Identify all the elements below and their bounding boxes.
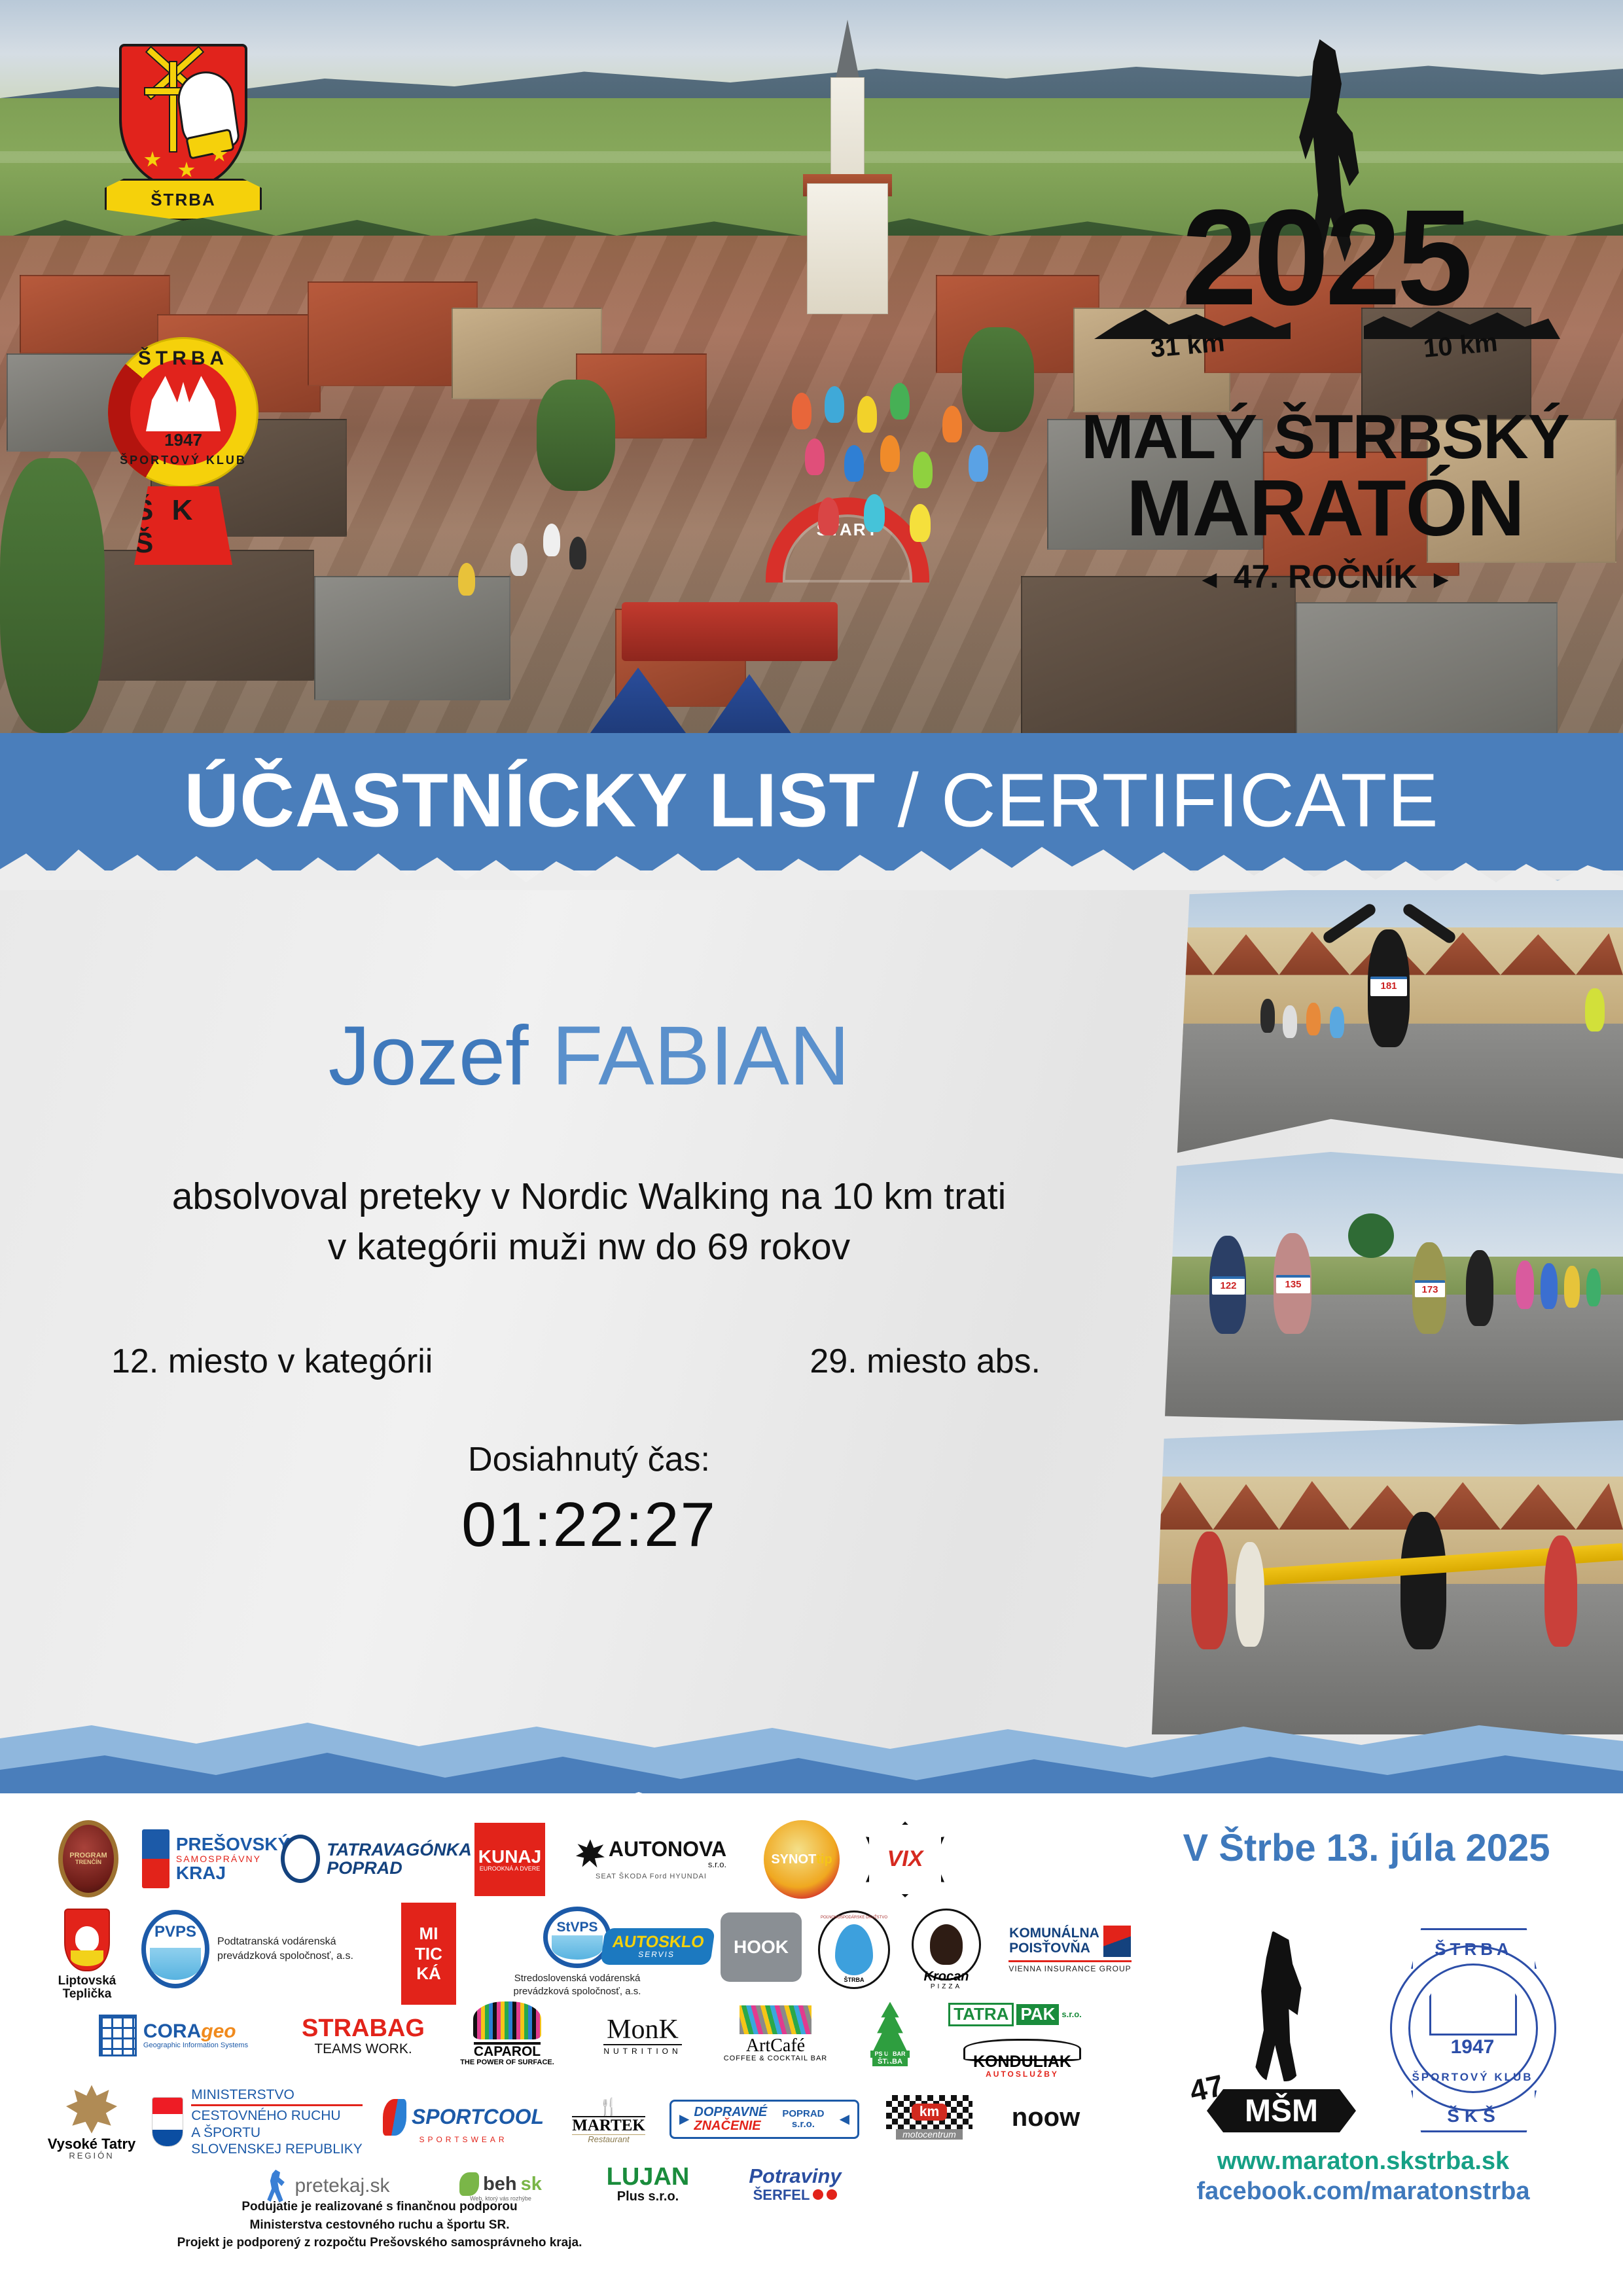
sks-club-emblem: ŠTRBA 1947 ŠPORTOVÝ KLUB Š K Š [101,331,265,612]
sponsor-vix[interactable]: VIX [859,1820,951,1899]
sponsor-line-1: AUTOSKLO [611,1933,705,1951]
description-line-1: absolvoval preteky v Nordic Walking na 1… [65,1172,1113,1222]
sponsor-line-1: KOMUNÁLNA [1009,1926,1099,1941]
sponsor-line-1: TATRA [948,2003,1014,2026]
club-abbrev: Š K Š [134,486,232,565]
torn-edge-top [0,844,1623,890]
runner-silhouette-icon [1247,1931,1310,2081]
strba-coat-of-arms: ŠTRBA [105,29,262,226]
title-separator: / [876,758,941,843]
sportcool-flame-icon [383,2099,406,2136]
sponsor-krocan-pizza[interactable]: Krocan PIZZA [904,1908,989,1992]
sponsor-sportcool[interactable]: SPORTCOOL SPORTSWEAR [382,2089,545,2154]
sponsor-line-1: LUJAN [607,2164,690,2191]
sponsor-line-2: Teplička [63,1988,112,2001]
funding-note-line3: Projekt je podporený z rozpočtu Prešovsk… [46,2234,713,2252]
sponsor-vysoke-tatry[interactable]: Vysoké Tatry REGIÓN [43,2078,141,2167]
spectator [1544,1535,1577,1647]
sponsor-line-1: MI [419,1924,438,1944]
water-drop-icon [835,1924,873,1975]
sponsor-monk-nutrition[interactable]: MonK NUTRITION [580,2001,705,2070]
crowd-runner [969,445,988,482]
turkey-icon [930,1924,963,1965]
sponsor-line-3: A ŠPORTU [191,2125,362,2141]
sponsor-line-2: SAMOSPRÁVNY [176,1854,290,1864]
bib-number: 135 [1276,1275,1310,1293]
kraj-flag-icon [142,1829,169,1888]
sponsor-line-2: NUTRITION [603,2044,681,2056]
sponsor-line-1: PVPS [154,1924,196,1940]
spectator [1283,1005,1297,1038]
sponsor-line-1: Vysoké Tatry [48,2136,136,2151]
sponsor-line-3: Geographic Information Systems [143,2042,248,2050]
church-icon [795,20,900,327]
sponsor-line-2: tip [816,1852,832,1867]
sponsor-line-3: POPRAD s.r.o. [772,2109,834,2130]
sponsor-line-2: COFFEE & COCKTAIL BAR [724,2055,828,2063]
sponsor-line-1: SPORTCOOL [412,2105,544,2128]
sponsor-line-2: PIZZA [931,1984,962,1991]
sponsor-strabag[interactable]: STRABAG TEAMS WORK. [291,2002,435,2070]
sponsor-potraviny-serfel[interactable]: Potraviny ŠERFEL [723,2157,867,2212]
marathon-name-line1: MALÝ ŠTRBSKÝ [1067,406,1584,469]
sponsor-komunalna-poistovna[interactable]: KOMUNÁLNA POISŤOVŇA VIENNA INSURANCE GRO… [998,1913,1142,1985]
sponsor-line-1: Krocan [924,1970,969,1984]
sponsor-synot-tip[interactable]: SYNOTtip [756,1819,847,1900]
distance-short-label: 10 km [1422,328,1499,364]
stamp-bottom-text: ŠKŠ [1411,2090,1537,2132]
sponsor-line-2: TEAMS WORK. [314,2042,412,2056]
cutlery-icon: 🍴 [598,2098,619,2116]
coa-ribbon-label: ŠTRBA [105,179,262,221]
sponsor-caparol[interactable]: CAPAROL THE POWER OF SURFACE. [445,1994,569,2074]
sponsor-line-2: TIC [415,1944,442,1964]
crowd-runner [913,452,933,488]
crowd-runner [818,497,839,535]
caparol-elephant-icon [473,2001,541,2039]
sponsor-logo-grid: PROGRAM TRENČÍN PREŠOVSKÝ SAMOSPRÁVNY KR… [36,1803,1142,2196]
sponsor-dopravne-znacenie[interactable]: ▶ DOPRAVNÉ ZNAČENIE POPRAD s.r.o. ◀ [669,2087,859,2151]
sponsor-line-3: VIENNA INSURANCE GROUP [1008,1960,1131,1973]
sponsor-martek[interactable]: 🍴 MARTEK Restaurant [553,2083,664,2159]
sponsor-autonova[interactable]: AUTONOVA s.r.o. SEAT ŠKODA Ford HYUNDAI [560,1820,743,1899]
rooftop [314,576,510,700]
spectator [543,524,560,556]
sponsor-line-2: ŠERFEL [753,2187,810,2202]
sponsor-line-1: TATRAVAGÓNKA [327,1840,471,1859]
sponsor-line-1: beh [483,2174,517,2194]
spectator [1260,999,1275,1033]
runner-body [1541,1263,1558,1309]
description-line-2: v kategórii muži nw do 69 rokov [65,1222,1113,1272]
club-founded-year: 1947 [101,430,265,450]
tatravagonka-oval-icon [281,1835,320,1883]
sponsor-line-1: Liptovská [58,1975,116,1988]
sponsor-line-1: CORA [143,2020,201,2042]
sponsor-presovsky-kraj[interactable]: PREŠOVSKÝ SAMOSPRÁVNY KRAJ [144,1823,288,1895]
sponsor-line-3: SEAT ŠKODA Ford HYUNDAI [596,1873,707,1881]
facebook-link[interactable]: facebook.com/maratonstrba [1150,2177,1576,2207]
sponsor-line-3: KRAJ [176,1863,290,1882]
absolute-placement: 29. miesto abs. [810,1342,1113,1381]
spectator [510,543,527,576]
sponsor-line-2: ŠTRBA [820,1977,888,1983]
sponsor-line-1: PREŠOVSKÝ [176,1835,290,1854]
sponsor-line-1: KONDULIAK [973,2053,1071,2070]
spectator-folk [1191,1532,1228,1649]
crowd-runner [857,396,877,433]
sponsor-line-2: Podtatranská vodárenská [217,1935,353,1949]
crowd-runner [942,406,962,442]
tree-icon [1348,1213,1394,1258]
category-placement: 12. miesto v kategórii [72,1342,433,1381]
marathon-name-line2: MARATÓN [1067,468,1584,548]
sponsor-line-1: km [912,2104,947,2121]
sponsor-line-3: KÁ [416,1964,441,1984]
sponsor-ps-urbar-strba[interactable]: PS URBÁR ŠTRBA [847,1992,933,2077]
photo-finisher: 181 [1152,877,1623,1158]
sponsor-line-1: POĽNOHOSPODÁRSKE DRUŽSTVO [820,1916,888,1920]
website-link[interactable]: www.maraton.skstrba.sk [1150,2147,1576,2177]
issue-date: V Štrbe 13. júla 2025 [1157,1826,1576,1870]
crowd-runner [880,435,900,472]
pvps-oval-icon: PVPS [141,1910,209,1988]
sponsor-konduliak[interactable]: KONDULIAK AUTOSLUŽBY [947,2034,1097,2083]
sponsor-program-trencin[interactable]: PROGRAM TRENČÍN [43,1816,134,1901]
kp-flag-icon [1103,1926,1131,1957]
crowd-runner [910,504,931,542]
runner-body [1516,1261,1534,1309]
star-icon [178,162,195,179]
club-name-top: ŠTRBA [101,348,265,370]
beh-runner-icon [459,2172,479,2196]
contact-links: www.maraton.skstrba.sk facebook.com/mara… [1150,2147,1576,2206]
sponsor-tatravagonka[interactable]: TATRAVAGÓNKA POPRAD [298,1824,455,1893]
msm-event-stamp: 47. MŠM [1190,1931,1366,2134]
start-arch-icon: ŠTART [766,497,929,583]
crowd-runner [825,386,844,423]
marathon-logo: 2025 31 km 10 km MALÝ ŠTRBSKÝ MARATÓN ◄4… [1067,39,1584,615]
bib-number: 173 [1415,1280,1445,1297]
spectator [1306,1003,1321,1035]
sponsor-line-1: HOOK [734,1937,789,1956]
sponsor-autosklo[interactable]: AUTOSKLO SERVIS [599,1912,717,1981]
sponsor-line-2: TRENČÍN [75,1859,101,1865]
spectator [1330,1007,1344,1038]
sponsor-line-1: VIX [887,1848,923,1871]
sponsor-line-2: POPRAD [327,1859,471,1877]
tree-cluster [962,327,1034,432]
sponsor-line-2: EUROOKNÁ A DVERE [480,1866,541,1872]
sponsor-line-1: SYNOT [771,1852,816,1867]
sponsor-line-2: motocentrum [896,2129,963,2140]
sponsor-line-2: REGIÓN [69,2151,114,2161]
arrow-right-icon: ◀ [840,2113,849,2126]
sponsor-line-1: CAPAROL [474,2042,541,2059]
crowd-runner [792,393,811,429]
star-icon [144,151,161,168]
sponsor-line-1: MINISTERSTVO [191,2087,362,2103]
distance-row: 31 km 10 km [1067,301,1584,367]
marathon-edition-row: ◄47. ROČNÍK► [1067,558,1584,596]
sponsor-km-motocentrum[interactable]: km motocentrum [874,2083,985,2151]
signature-stamps: 47. MŠM ŠTRBA 1947 ŠPORTOVÝ KLUB ŠKŠ [1158,1911,1577,2147]
bib-number: 122 [1212,1276,1245,1295]
finish-time-value: 01:22:27 [79,1489,1099,1561]
sponsor-line-1: pretekaj.sk [294,2176,389,2197]
crowd-runner [890,383,910,420]
sponsor-line-2: THE POWER OF SURFACE. [460,2059,554,2067]
arrow-right-icon: ► [1429,566,1454,594]
sponsor-noow[interactable]: noow [997,2087,1095,2147]
photo-finish-line [1152,1420,1623,1734]
sponsor-line-1: STRABAG [302,2016,425,2042]
distance-long-label: 31 km [1149,328,1226,364]
sponsor-line-1: DOPRAVNÉ [694,2106,767,2119]
sponsor-line-2: SERVIS [610,1950,703,1959]
funding-note-line2: Ministerstva cestovného ruchu a športu S… [46,2216,713,2234]
sponsor-hook[interactable]: HOOK [717,1910,806,1984]
runner-body [1466,1250,1493,1326]
runner-body [1564,1266,1580,1308]
funding-note-line1: Podujatie je realizované s finančnou pod… [46,2198,713,2216]
sponsor-line-1: MARTEK [572,2116,645,2135]
sponsor-corageo[interactable]: CORAgeo Geographic Information Systems [75,2000,272,2072]
crowd-runner [844,445,864,482]
sponsor-line-2: s.r.o. [609,1860,726,1869]
artcafe-stripes-icon [740,2005,811,2034]
sponsor-line-1: MonK [607,2015,679,2044]
sponsor-line-4: SLOVENSKEJ REPUBLIKY [191,2141,362,2157]
sponsor-tatrapak[interactable]: TATRA PAK s.r.o. [943,1992,1087,2037]
crowd-runner [805,439,825,475]
sks-official-stamp: ŠTRBA 1947 ŠPORTOVÝ KLUB ŠKŠ [1374,1922,1571,2138]
sponsor-line-2: PAK [1016,2004,1059,2024]
sponsor-miticka[interactable]: MI TIC KÁ [393,1901,465,2006]
race-tent [622,602,838,661]
sponsor-line-2: sk [521,2174,542,2194]
sponsor-line-2: CESTOVNÉHO RUCHU [191,2108,362,2124]
msm-abbrev: MŠM [1207,2089,1356,2132]
sponsor-kunaj[interactable]: KUNAJ EUROOKNÁ A DVERE [468,1821,552,1897]
title-slovak: ÚČASTNÍCKY LIST [184,758,876,843]
finish-time-label: Dosiahnutý čas: [79,1440,1099,1479]
sponsor-line-3: s.r.o. [1061,2010,1081,2019]
sponsor-line-1: KUNAJ [478,1847,541,1866]
club-name-bottom: ŠPORTOVÝ KLUB [101,454,265,467]
page-title: ÚČASTNÍCKY LIST / CERTIFICATE [184,762,1438,838]
dot-icon [827,2189,837,2200]
participant-first-name: Jozef [329,1009,552,1103]
certificate-page: ŠTART [0,0,1623,2296]
tree-cluster [0,458,105,733]
tree-cluster [537,380,615,491]
sponsor-line-1: noow [1012,2104,1080,2131]
sponsor-line-1: AUTONOVA [609,1839,726,1861]
sponsor-line-1: Potraviny [749,2166,841,2187]
photo-uphill-runners: 122 135 173 [1152,1152,1623,1427]
sponsor-line-2: Restaurant [588,2135,630,2144]
arrow-left-icon: ◄ [1197,566,1222,594]
certificate-description: absolvoval preteky v Nordic Walking na 1… [65,1172,1113,1272]
sponsor-line-2: ZNAČENIE [694,2119,767,2133]
bib-number: 181 [1370,977,1407,996]
sponsor-line-1: ArtCafé [746,2036,805,2055]
sponsor-line-3: prevádzková spoločnosť, a.s. [217,1949,353,1964]
runner-body [1586,1268,1601,1306]
sponsor-line-2: AUTOSLUŽBY [986,2070,1059,2079]
stamp-arc-text: ŠPORTOVÝ KLUB [1374,2071,1571,2084]
participant-name: Jozef FABIAN [79,1014,1099,1098]
sponsor-line-2: POISŤOVŇA [1009,1941,1099,1956]
participant-last-name: FABIAN [552,1009,849,1103]
liptovska-shield-icon [64,1909,110,1971]
edelweiss-icon [66,2085,117,2134]
stamp-year: 1947 [1374,2036,1571,2058]
sponsor-artcafe[interactable]: ArtCafé COFFEE & COCKTAIL BAR [710,1994,841,2074]
sponsor-line-2: SPORTSWEAR [419,2136,507,2144]
title-english: CERTIFICATE [941,758,1439,843]
dot-icon [813,2189,823,2200]
autonova-star-icon [576,1839,605,1868]
marathon-edition-label: 47. ROČNÍK [1234,558,1418,595]
sponsor-line-1: StVPS [556,1920,597,1935]
crowd-runner [864,494,885,532]
spectator-folk [1236,1542,1264,1647]
cross-staff [169,61,177,152]
arrow-left-icon: ▶ [679,2113,689,2126]
corageo-grid-icon [99,2015,137,2056]
placement-row: 12. miesto v kategórii 29. miesto abs. [72,1342,1113,1381]
sponsor-line-2: geo [201,2020,236,2042]
spectator [458,563,475,596]
photo-collage: 181 122 135 173 [1152,877,1623,1734]
funding-note: Podujatie je realizované s finančnou pod… [46,2198,713,2252]
sponsor-liptovska-teplicka[interactable]: Liptovská Teplička [44,1908,130,2001]
runner-body [1400,1512,1446,1649]
spectator [569,537,586,569]
mountain-peaks-icon [1429,1970,1517,2036]
sponsor-footer: PROGRAM TRENČÍN PREŠOVSKÝ SAMOSPRÁVNY KR… [0,1793,1623,2296]
sponsor-ministerstvo[interactable]: MINISTERSTVO CESTOVNÉHO RUCHU A ŠPORTU S… [146,2081,368,2163]
stamp-top-text: ŠTRBA [1411,1928,1537,1969]
sponsor-pvps[interactable]: PVPS Podtatranská vodárenská prevádzková… [139,1913,355,1985]
sponsor-pd-strba[interactable]: POĽNOHOSPODÁRSKE DRUŽSTVO ŠTRBA [812,1909,896,1990]
slovak-emblem-icon [152,2097,183,2147]
marshal [1585,988,1605,1031]
